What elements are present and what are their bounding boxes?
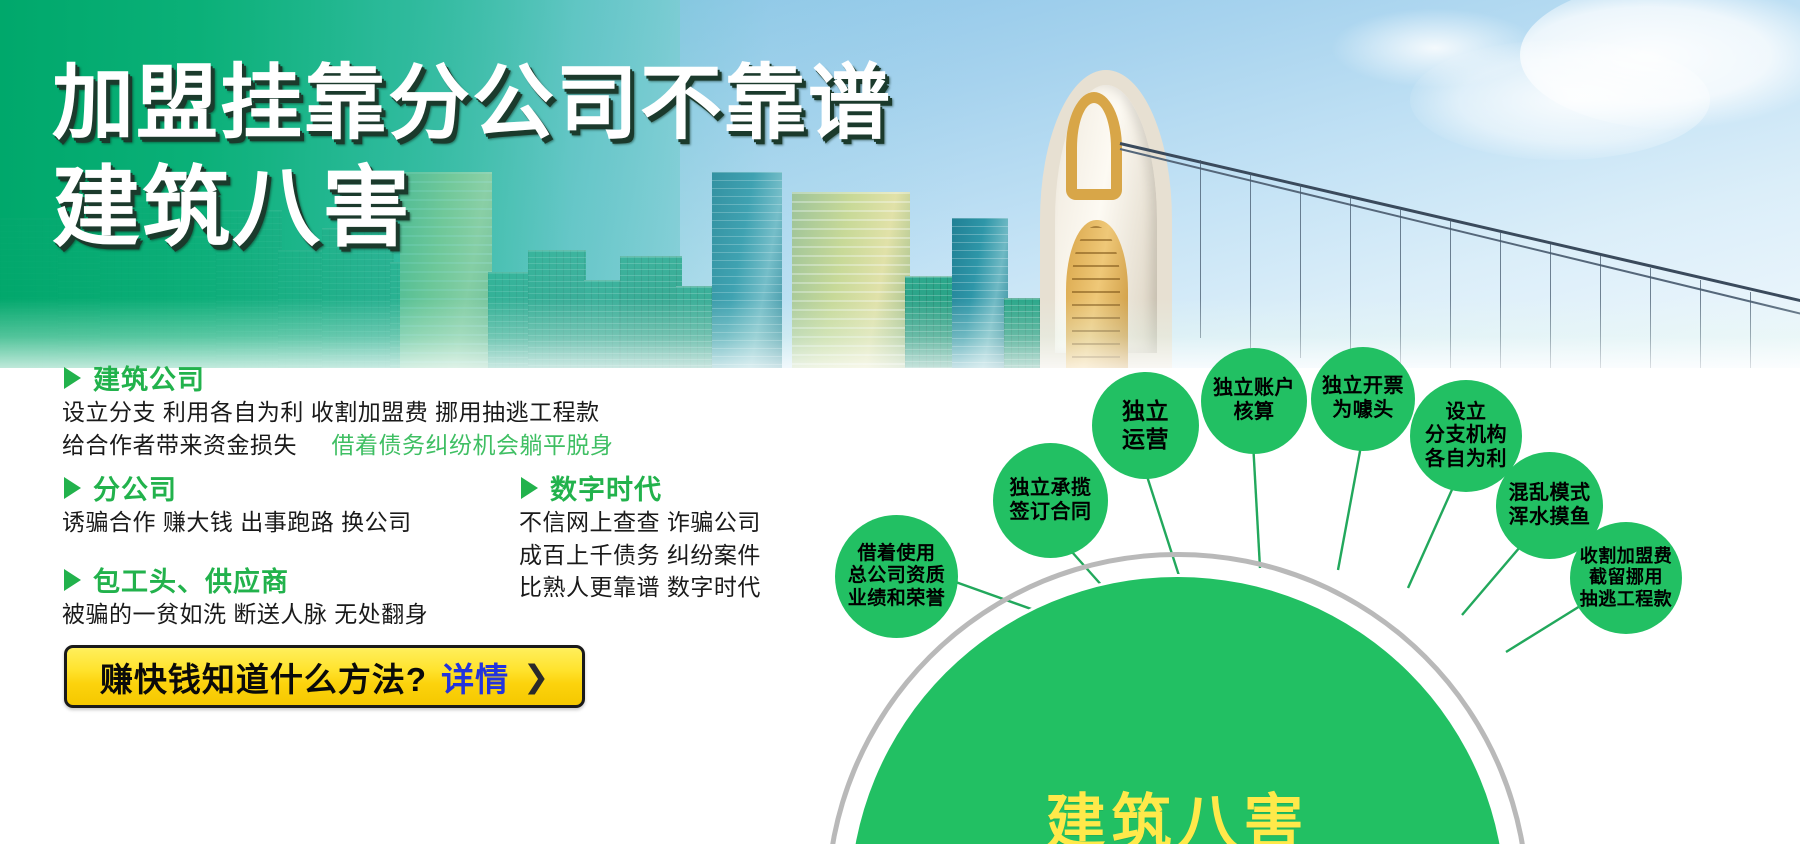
- poster-root: 加盟挂靠分公司不靠谱 建筑八害 建筑公司 设立分支 利用各自为利 收割加盟费 挪…: [0, 0, 1800, 844]
- triangle-bullet-icon: [64, 367, 81, 389]
- bubble-line: 总公司资质: [848, 565, 946, 587]
- body-line: 设立分支 利用各自为利 收割加盟费 挪用抽逃工程款: [62, 396, 613, 429]
- section-body-construction-company: 设立分支 利用各自为利 收割加盟费 挪用抽逃工程款 给合作者带来资金损失 借着债…: [62, 396, 613, 461]
- body-line: 不信网上查查 诈骗公司: [519, 506, 761, 539]
- section-heading-contractor-supplier: 包工头、供应商: [64, 560, 289, 599]
- cta-details-link[interactable]: 详情: [441, 653, 509, 701]
- bubble-line: 独立承揽: [1010, 477, 1092, 501]
- bubble-line: 独立: [1122, 398, 1169, 425]
- hero-title: 加盟挂靠分公司不靠谱 建筑八害: [52, 56, 892, 259]
- eight-harms-diagram: 建筑八害 借着使用 总公司资质 业绩和荣誉 独立承揽 签订合同 独立 运营: [790, 330, 1800, 844]
- bubble-line: 核算: [1213, 401, 1295, 425]
- bubble-8[interactable]: 收割加盟费 截留挪用 抽逃工程款: [1570, 522, 1682, 634]
- left-content-column: 建筑公司 设立分支 利用各自为利 收割加盟费 挪用抽逃工程款 给合作者带来资金损…: [0, 368, 790, 844]
- body-line: 被骗的一贫如洗 断送人脉 无处翻身: [62, 598, 428, 631]
- section-title: 建筑公司: [93, 358, 205, 397]
- bubble-line: 抽逃工程款: [1580, 589, 1673, 610]
- bubble-line: 混乱模式: [1509, 482, 1591, 506]
- cta-label: 赚快钱知道什么方法?: [100, 653, 427, 701]
- section-heading-construction-company: 建筑公司: [64, 358, 205, 397]
- bubble-line: 分支机构: [1425, 424, 1507, 448]
- bubble-line: 设立: [1425, 401, 1507, 425]
- chevron-right-icon: ❯: [523, 659, 549, 695]
- bubble-line: 独立账户: [1213, 377, 1295, 401]
- section-body-contractor-supplier: 被骗的一贫如洗 断送人脉 无处翻身: [62, 598, 428, 631]
- bubble-line: 为噱头: [1322, 399, 1404, 423]
- bubble-line: 独立开票: [1322, 375, 1404, 399]
- body-line: 比熟人更靠谱 数字时代: [519, 571, 761, 604]
- body-line: 给合作者带来资金损失 借着债务纠纷机会躺平脱身: [62, 429, 613, 462]
- section-title: 分公司: [93, 468, 177, 507]
- bubble-line: 运营: [1122, 426, 1169, 453]
- bubble-line: 借着使用: [848, 543, 946, 565]
- bubble-line: 收割加盟费: [1580, 546, 1673, 567]
- triangle-bullet-icon: [521, 477, 538, 499]
- bubble-line: 浑水摸鱼: [1509, 506, 1591, 530]
- hero-banner: 加盟挂靠分公司不靠谱 建筑八害: [0, 0, 1800, 368]
- bubble-line: 签订合同: [1010, 501, 1092, 525]
- section-title: 数字时代: [550, 468, 662, 507]
- hero-title-line-2: 建筑八害: [52, 157, 892, 259]
- bubble-1[interactable]: 借着使用 总公司资质 业绩和荣誉: [835, 515, 958, 638]
- bubble-line: 业绩和荣誉: [848, 588, 946, 610]
- bubble-2[interactable]: 独立承揽 签订合同: [993, 443, 1108, 558]
- body-line-green: 借着债务纠纷机会躺平脱身: [331, 432, 613, 458]
- section-heading-digital-era: 数字时代: [521, 468, 662, 507]
- bubble-line: 截留挪用: [1580, 567, 1673, 588]
- bubble-3[interactable]: 独立 运营: [1092, 372, 1199, 479]
- triangle-bullet-icon: [64, 569, 81, 591]
- bubble-5[interactable]: 独立开票 为噱头: [1311, 347, 1415, 451]
- bubble-line: 各自为利: [1425, 448, 1507, 472]
- dome-center-label: 建筑八害: [825, 774, 1530, 844]
- body-line: 诱骗合作 赚大钱 出事跑路 换公司: [62, 506, 412, 539]
- hero-title-line-1: 加盟挂靠分公司不靠谱: [52, 56, 892, 151]
- section-body-branch-company: 诱骗合作 赚大钱 出事跑路 换公司: [62, 506, 412, 539]
- triangle-bullet-icon: [64, 477, 81, 499]
- body-line-black: 给合作者带来资金损失: [62, 432, 297, 458]
- body-line: 成百上千债务 纠纷案件: [519, 539, 761, 572]
- bubble-4[interactable]: 独立账户 核算: [1201, 348, 1307, 454]
- section-body-digital-era: 不信网上查查 诈骗公司 成百上千债务 纠纷案件 比熟人更靠谱 数字时代: [519, 506, 761, 604]
- section-heading-branch-company: 分公司: [64, 468, 177, 507]
- cta-button[interactable]: 赚快钱知道什么方法? 详情 ❯: [64, 645, 585, 708]
- section-title: 包工头、供应商: [93, 560, 289, 599]
